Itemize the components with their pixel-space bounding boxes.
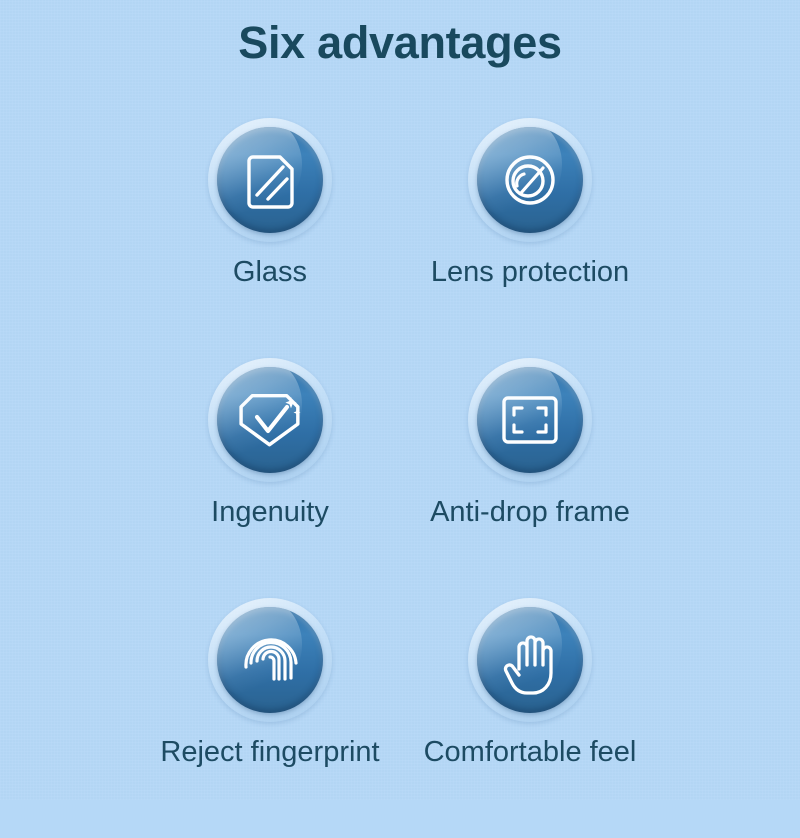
feature-item-lens-protection[interactable]: Lens protection (400, 118, 660, 289)
feature-item-reject-fingerprint[interactable]: Reject fingerprint (140, 598, 400, 769)
feature-badge[interactable] (468, 118, 592, 242)
hand-palm-icon (477, 607, 583, 713)
feature-item-glass[interactable]: Glass (140, 118, 400, 289)
fingerprint-icon (217, 607, 323, 713)
six-advantages-infographic: Six advantages Glass (0, 0, 800, 800)
features-row: Glass Lens protection (0, 118, 800, 358)
badge-disc (217, 607, 323, 713)
feature-badge[interactable] (208, 358, 332, 482)
badge-disc (477, 607, 583, 713)
features-row: Reject fingerprint Comfortable feel (0, 598, 800, 838)
feature-item-anti-drop-frame[interactable]: Anti-drop frame (400, 358, 660, 529)
features-grid: Glass Lens protection (0, 118, 800, 838)
feature-label: Ingenuity (211, 496, 329, 529)
feature-label: Glass (233, 256, 307, 289)
glass-screen-icon (217, 127, 323, 233)
feature-item-ingenuity[interactable]: Ingenuity (140, 358, 400, 529)
feature-badge[interactable] (208, 598, 332, 722)
badge-disc (217, 367, 323, 473)
page-title: Six advantages (0, 16, 800, 70)
feature-label: Reject fingerprint (160, 736, 379, 769)
feature-badge[interactable] (468, 358, 592, 482)
feature-label: Anti-drop frame (430, 496, 630, 529)
badge-disc (477, 127, 583, 233)
badge-disc (477, 367, 583, 473)
feature-badge[interactable] (468, 598, 592, 722)
feature-badge[interactable] (208, 118, 332, 242)
badge-disc (217, 127, 323, 233)
feature-item-comfortable-feel[interactable]: Comfortable feel (400, 598, 660, 769)
feature-label: Comfortable feel (424, 736, 637, 769)
feature-label: Lens protection (431, 256, 629, 289)
gem-check-icon (217, 367, 323, 473)
features-row: Ingenuity Anti-drop frame (0, 358, 800, 598)
corner-frame-icon (477, 367, 583, 473)
camera-lens-icon (477, 127, 583, 233)
